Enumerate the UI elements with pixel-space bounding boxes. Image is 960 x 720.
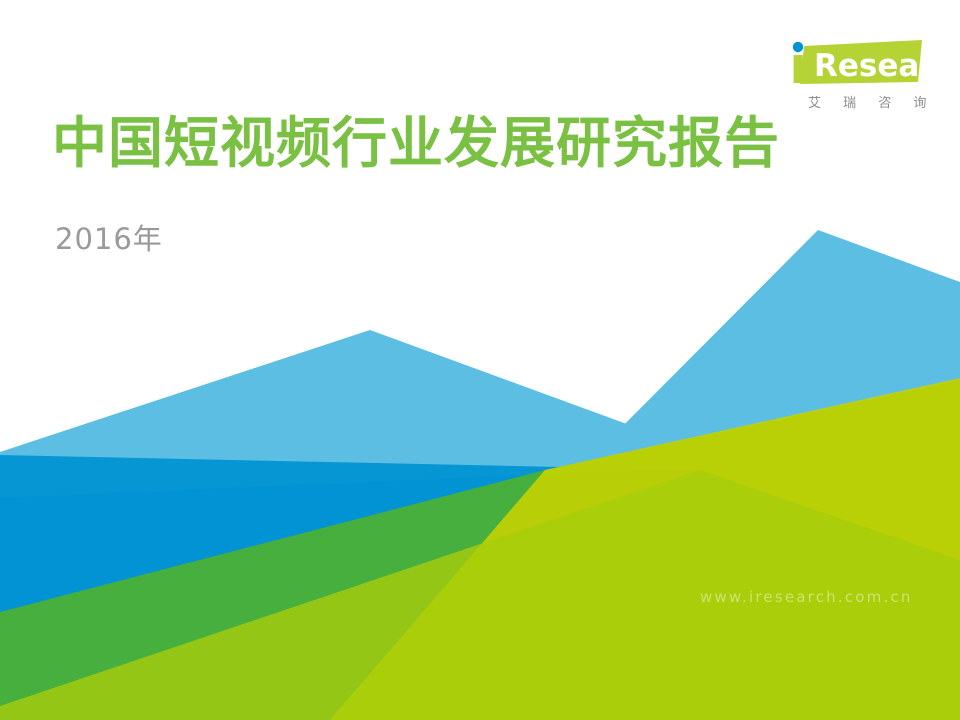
page-title: 中国短视频行业发展研究报告: [52, 112, 780, 175]
logo-i-stem: [794, 55, 803, 83]
logo-research-text: Research: [814, 48, 930, 84]
report-cover-slide: Research 艾 瑞 咨 询 中国短视频行业发展研究报告 2016年 www…: [0, 0, 960, 720]
logo-plate-icon: Research: [780, 34, 930, 88]
iresearch-logo: Research 艾 瑞 咨 询: [780, 34, 930, 118]
logo-subtitle-cn: 艾 瑞 咨 询: [780, 92, 930, 111]
website-watermark: www.iresearch.com.cn: [700, 588, 913, 606]
logo-wordmark: Research: [780, 34, 930, 88]
logo-blue-dot-icon: [793, 42, 803, 52]
page-subtitle-year: 2016年: [55, 216, 163, 258]
